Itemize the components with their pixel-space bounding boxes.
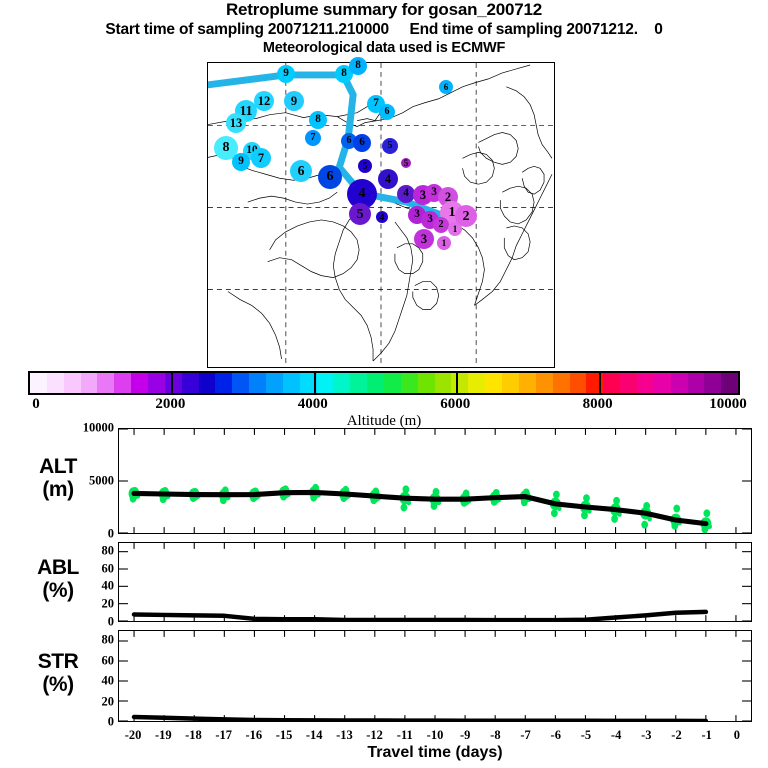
map-marker[interactable]: 4 [378, 169, 398, 189]
map-marker[interactable]: 9 [232, 153, 250, 171]
colorbar-cell [418, 373, 435, 393]
panel-name: ABL [8, 556, 108, 579]
map-marker[interactable]: 6 [318, 165, 342, 189]
colorbar-cell [283, 373, 300, 393]
colorbar-tick-label: 0 [32, 396, 40, 413]
colorbar-cell [266, 373, 283, 393]
colorbar-separator [314, 373, 316, 393]
colorbar-cell [502, 373, 519, 393]
panel-unit: (m) [8, 478, 108, 501]
colorbar-separator [599, 373, 601, 393]
x-tick-label: -4 [611, 728, 621, 743]
colorbar-cell [654, 373, 671, 393]
map-marker[interactable]: 5 [358, 159, 372, 173]
colorbar-cell [114, 373, 131, 393]
colorbar-cell [435, 373, 452, 393]
abl-plot [119, 543, 751, 621]
x-tick-label: -7 [520, 728, 530, 743]
x-tick-label: -14 [306, 728, 323, 743]
xaxis-title: Travel time (days) [367, 744, 502, 762]
colorbar-cell [47, 373, 64, 393]
colorbar-cell [81, 373, 98, 393]
colorbar-cell [215, 373, 232, 393]
met-data-line: Meteorological data used is ECMWF [0, 39, 768, 57]
colorbar-separator [456, 373, 458, 393]
colorbar-cell [468, 373, 485, 393]
x-tick-label: -15 [276, 728, 293, 743]
abl-panel[interactable] [118, 542, 752, 622]
colorbar-cell [671, 373, 688, 393]
map-marker[interactable]: 2 [433, 217, 449, 233]
map-marker[interactable]: 6 [379, 104, 395, 120]
str-panel[interactable] [118, 630, 752, 722]
x-tick-label: -1 [701, 728, 711, 743]
map-marker[interactable]: 5 [382, 138, 398, 154]
panel-label-abl: ABL(%) [8, 556, 108, 602]
colorbar-cell [485, 373, 502, 393]
x-tick-label: -9 [460, 728, 470, 743]
colorbar-cell [620, 373, 637, 393]
map-marker[interactable]: 7 [251, 148, 271, 168]
colorbar-tick-label: 4000 [298, 396, 328, 413]
map-marker[interactable]: 8 [349, 57, 367, 75]
colorbar-cell [570, 373, 587, 393]
page-title: Retroplume summary for gosan_200712 [0, 0, 768, 20]
colorbar-cell [603, 373, 620, 393]
panel-name: ALT [8, 455, 108, 478]
retroplume-map[interactable]: 9886129117613881079766655654454433332122… [207, 62, 555, 368]
map-marker[interactable]: 12 [254, 91, 274, 111]
panel-label-str: STR(%) [8, 650, 108, 696]
map-marker[interactable]: 5 [349, 203, 371, 225]
colorbar-tick-label: 10000 [709, 396, 747, 413]
map-marker[interactable]: 4 [376, 211, 388, 223]
colorbar-cell [232, 373, 249, 393]
map-marker[interactable]: 9 [284, 91, 304, 111]
colorbar-cell [317, 373, 334, 393]
y-tick-label: 0 [108, 615, 118, 630]
colorbar-tick-label: 2000 [155, 396, 185, 413]
colorbar-cell [131, 373, 148, 393]
colorbar-cell [30, 373, 47, 393]
colorbar-cell [182, 373, 199, 393]
y-tick-label: 0 [108, 527, 118, 542]
colorbar-cell [249, 373, 266, 393]
colorbar-cell [148, 373, 165, 393]
colorbar-cell [199, 373, 216, 393]
colorbar-cell [451, 373, 468, 393]
colorbar-cell [519, 373, 536, 393]
colorbar-cell [384, 373, 401, 393]
alt-panel[interactable] [118, 428, 752, 534]
map-marker[interactable]: 5 [401, 158, 411, 168]
x-tick-label: -19 [155, 728, 172, 743]
x-tick-label: 0 [734, 728, 740, 743]
x-tick-label: -12 [366, 728, 383, 743]
altitude-colorbar[interactable]: 0200040006000800010000 Altitude (m) [28, 371, 740, 395]
map-marker[interactable]: 8 [309, 111, 327, 129]
map-marker[interactable]: 1 [448, 222, 462, 236]
colorbar-cell [367, 373, 384, 393]
colorbar-cell [333, 373, 350, 393]
y-tick-label: 0 [108, 715, 118, 730]
str-plot [119, 631, 751, 721]
map-marker[interactable]: 13 [226, 113, 246, 133]
x-tick-label: -20 [125, 728, 142, 743]
x-tick-label: -10 [427, 728, 444, 743]
map-marker[interactable]: 1 [437, 236, 451, 250]
alt-plot [119, 429, 751, 533]
colorbar-cell [721, 373, 738, 393]
colorbar-cell [350, 373, 367, 393]
map-marker[interactable]: 9 [277, 65, 295, 83]
map-marker[interactable]: 7 [305, 130, 321, 146]
colorbar-separator [171, 373, 173, 393]
colorbar-cell [704, 373, 721, 393]
colorbar-cell [64, 373, 81, 393]
colorbar-tick-label: 8000 [583, 396, 613, 413]
panel-label-alt: ALT(m) [8, 455, 108, 501]
x-tick-label: -2 [671, 728, 681, 743]
colorbar-cell [688, 373, 705, 393]
colorbar-cell [586, 373, 603, 393]
x-tick-label: -6 [551, 728, 561, 743]
colorbar-cell [553, 373, 570, 393]
x-tick-label: -13 [336, 728, 353, 743]
colorbar-cell [536, 373, 553, 393]
colorbar-tick-label: 6000 [440, 396, 470, 413]
x-tick-label: -3 [641, 728, 651, 743]
x-tick-label: -17 [215, 728, 232, 743]
map-marker[interactable]: 3 [414, 229, 434, 249]
x-tick-label: -8 [490, 728, 500, 743]
x-tick-label: -11 [397, 728, 413, 743]
x-tick-label: -16 [246, 728, 263, 743]
map-marker[interactable]: 6 [439, 80, 453, 94]
colorbar-cell [97, 373, 114, 393]
y-tick-label: 10000 [83, 421, 118, 436]
x-tick-label: -18 [185, 728, 202, 743]
colorbar-cell [401, 373, 418, 393]
sampling-time-line: Start time of sampling 20071211.210000 E… [0, 20, 768, 39]
map-marker[interactable]: 6 [353, 134, 371, 152]
map-marker[interactable]: 6 [290, 160, 312, 182]
panel-name: STR [8, 650, 108, 673]
y-tick-label: 80 [102, 633, 119, 648]
panel-unit: (%) [8, 579, 108, 602]
colorbar-gradient [28, 371, 740, 395]
y-tick-label: 20 [102, 694, 119, 709]
colorbar-cell [637, 373, 654, 393]
title-block: Retroplume summary for gosan_200712 Star… [0, 0, 768, 57]
x-tick-label: -5 [581, 728, 591, 743]
panel-unit: (%) [8, 673, 108, 696]
